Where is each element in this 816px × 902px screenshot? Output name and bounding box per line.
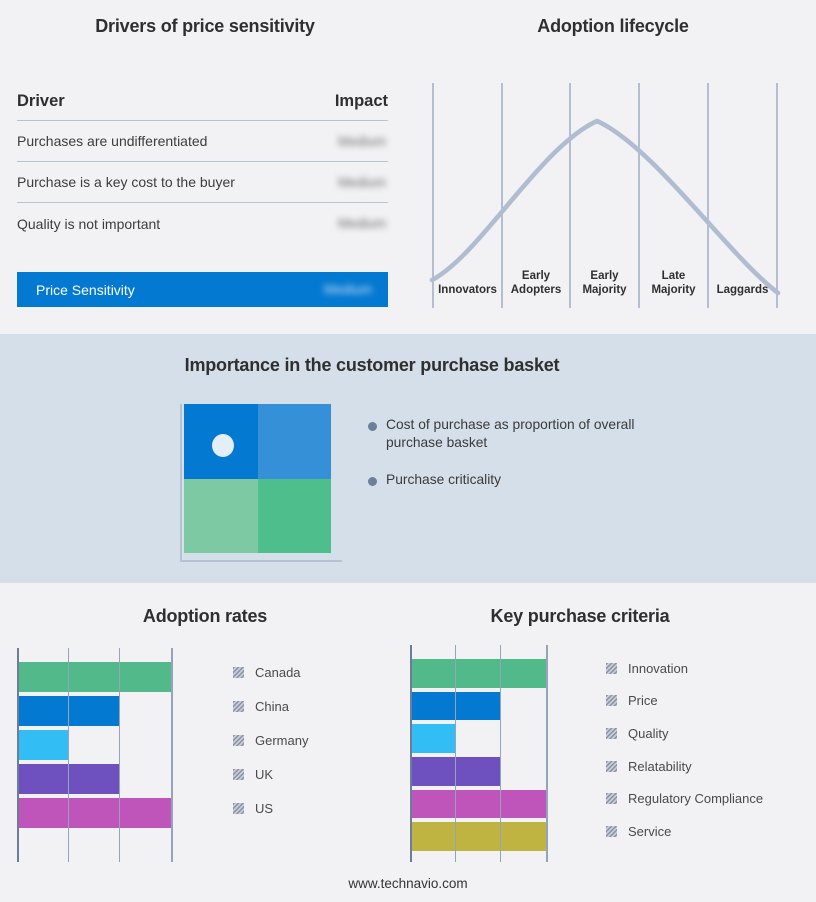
legend-item: US	[233, 791, 308, 825]
legend-item: Regulatory Compliance	[606, 783, 763, 816]
legend-label: Purchase criticality	[386, 471, 501, 489]
lifecycle-stage-early-adopters: Early Adopters	[502, 270, 570, 297]
legend-item: UK	[233, 757, 308, 791]
impact-value: Medium	[338, 216, 388, 231]
gridline	[500, 645, 502, 862]
quadrant-top-right	[258, 404, 332, 479]
column-header-driver: Driver	[17, 92, 65, 111]
quadrant-bottom-right	[258, 479, 332, 554]
gridline	[171, 648, 173, 862]
legend-item: China	[233, 689, 308, 723]
legend-item: Innovation	[606, 652, 763, 685]
gridline	[546, 645, 548, 862]
legend-label: Service	[628, 824, 671, 839]
hatch-swatch-icon	[606, 793, 617, 804]
legend-item: Relatability	[606, 750, 763, 783]
adoption-gridlines	[17, 648, 222, 862]
adoption-rates-title: Adoption rates	[0, 606, 410, 627]
kpc-gridlines	[410, 645, 591, 862]
lifecycle-stage-early-majority: Early Majority	[570, 270, 639, 297]
lifecycle-stage-late-majority: Late Majority	[639, 270, 708, 297]
lifecycle-stage-innovators: Innovators	[433, 284, 502, 298]
hatch-swatch-icon	[606, 695, 617, 706]
quadrant-y-axis	[180, 404, 182, 562]
lifecycle-panel-title: Adoption lifecycle	[410, 16, 816, 37]
importance-panel-title: Importance in the customer purchase bask…	[0, 355, 744, 376]
highlight-label: Price Sensitivity	[36, 282, 135, 298]
bullet-icon	[368, 477, 377, 486]
hatch-swatch-icon	[233, 803, 244, 814]
hatch-swatch-icon	[233, 735, 244, 746]
hatch-swatch-icon	[606, 761, 617, 772]
lifecycle-stage-laggards: Laggards	[708, 284, 777, 298]
infographic-page: Drivers of price sensitivity Driver Impa…	[0, 0, 816, 902]
legend-label: Canada	[255, 665, 301, 680]
price-sensitivity-highlight-row: Price Sensitivity Medium	[17, 272, 388, 307]
legend-item: Price	[606, 685, 763, 718]
legend-item: Service	[606, 815, 763, 848]
quadrant-bottom-left	[184, 479, 258, 554]
gridline	[119, 648, 121, 862]
quadrant-position-marker	[212, 434, 234, 457]
driver-label: Purchase is a key cost to the buyer	[17, 174, 235, 190]
legend-item: Quality	[606, 717, 763, 750]
gridline	[455, 645, 457, 862]
table-row: Purchase is a key cost to the buyer Medi…	[17, 162, 388, 203]
drivers-panel-title: Drivers of price sensitivity	[0, 16, 410, 37]
lifecycle-stage-labels: Innovators Early Adopters Early Majority…	[410, 75, 816, 310]
gridline	[68, 648, 70, 862]
key-purchase-criteria-chart	[410, 645, 591, 862]
table-row: Quality is not important Medium	[17, 203, 388, 244]
hatch-swatch-icon	[606, 826, 617, 837]
key-purchase-criteria-title: Key purchase criteria	[390, 606, 770, 627]
legend-label: Innovation	[628, 661, 688, 676]
legend-label: Quality	[628, 726, 668, 741]
table-row: Purchases are undifferentiated Medium	[17, 121, 388, 162]
quadrant-x-axis	[180, 560, 342, 562]
driver-label: Quality is not important	[17, 216, 160, 232]
drivers-table: Driver Impact Purchases are undifferenti…	[17, 92, 388, 244]
hatch-swatch-icon	[233, 701, 244, 712]
adoption-lifecycle-chart: Innovators Early Adopters Early Majority…	[410, 75, 816, 310]
highlight-impact-value: Medium	[324, 282, 374, 297]
legend-label: US	[255, 801, 273, 816]
adoption-rates-chart	[17, 648, 222, 862]
legend-label: China	[255, 699, 289, 714]
legend-label: UK	[255, 767, 273, 782]
chart-axis-line	[410, 645, 412, 862]
key-purchase-criteria-legend: InnovationPriceQualityRelatabilityRegula…	[606, 652, 763, 848]
column-header-impact: Impact	[335, 92, 388, 111]
adoption-rates-legend: CanadaChinaGermanyUKUS	[233, 655, 308, 825]
hatch-swatch-icon	[233, 667, 244, 678]
hatch-swatch-icon	[233, 769, 244, 780]
legend-label: Price	[628, 693, 658, 708]
importance-legend: Cost of purchase as proportion of overal…	[368, 416, 658, 508]
list-item: Cost of purchase as proportion of overal…	[368, 416, 658, 452]
footer-url: www.technavio.com	[0, 876, 816, 891]
legend-item: Germany	[233, 723, 308, 757]
driver-label: Purchases are undifferentiated	[17, 133, 207, 149]
list-item: Purchase criticality	[368, 471, 658, 489]
legend-label: Regulatory Compliance	[628, 791, 763, 806]
impact-value: Medium	[338, 175, 388, 190]
legend-label: Germany	[255, 733, 308, 748]
hatch-swatch-icon	[606, 728, 617, 739]
legend-item: Canada	[233, 655, 308, 689]
chart-axis-line	[17, 648, 19, 862]
legend-label: Relatability	[628, 759, 692, 774]
hatch-swatch-icon	[606, 663, 617, 674]
drivers-table-header: Driver Impact	[17, 92, 388, 121]
impact-value: Medium	[338, 134, 388, 149]
quadrant-matrix	[184, 404, 331, 553]
legend-label: Cost of purchase as proportion of overal…	[386, 416, 658, 452]
bullet-icon	[368, 422, 377, 431]
